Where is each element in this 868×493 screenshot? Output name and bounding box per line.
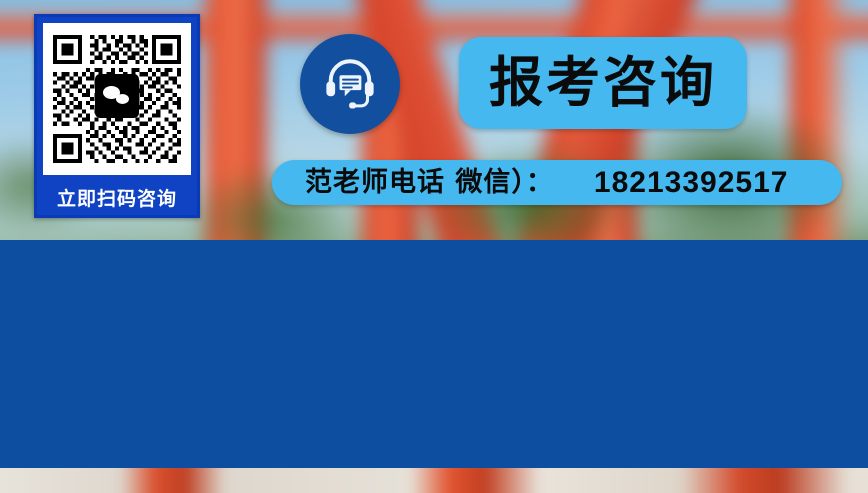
certificate-info-panel: 特种作业 ： 电工证、焊工证、高处作业证、制冷作业、安全员证等 特种设备 ： 叉… [0,240,868,468]
footer-photo-image [0,468,868,493]
promo-poster: 立即扫码咨询 报考咨询 范老师电话 微信）： 18213392517 特 [0,0,868,493]
qr-caption: 立即扫码咨询 [37,184,197,211]
footer-photo [0,468,868,493]
contact-label: 范老师电话 微信）： [305,169,554,196]
qr-code-frame [43,23,191,175]
title-pill[interactable]: 报考咨询 [459,37,747,129]
headset-badge[interactable] [300,34,400,134]
phone-number[interactable]: 18213392517 [594,168,789,198]
title-pill-text: 报考咨询 [489,56,717,110]
wechat-logo-icon [95,74,139,118]
phone-pill[interactable]: 范老师电话 微信）： 18213392517 [272,160,842,205]
qr-code-card[interactable]: 立即扫码咨询 [34,14,200,218]
headset-chat-icon [322,56,378,112]
